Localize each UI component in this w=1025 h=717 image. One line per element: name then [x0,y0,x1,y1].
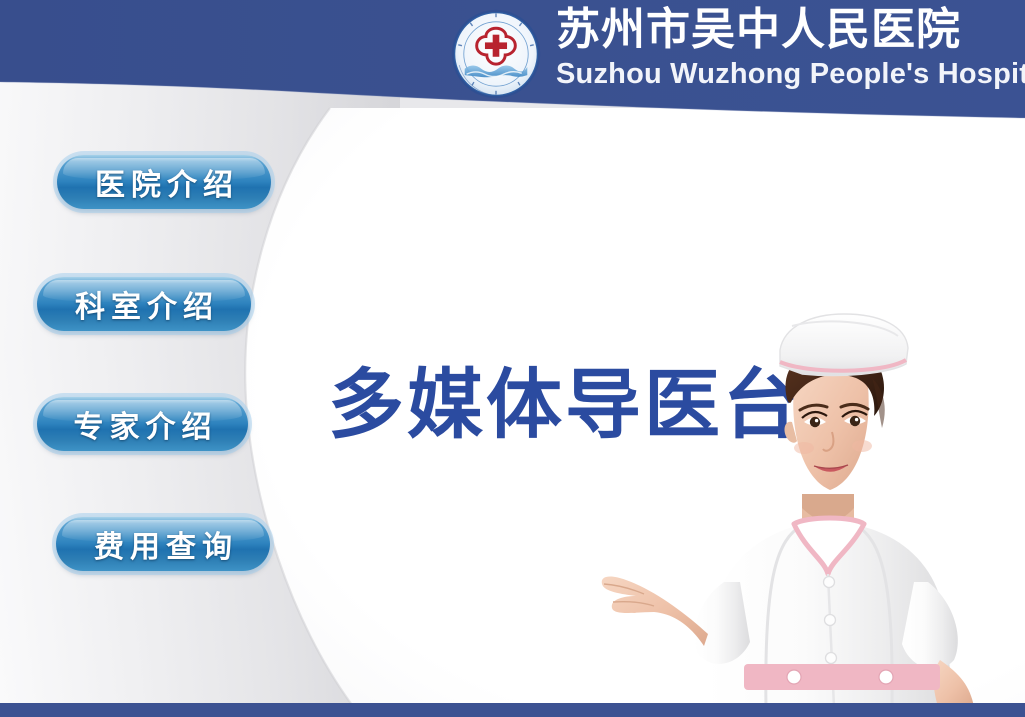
nurse-photo [588,282,1025,707]
sidebar-item-department-intro[interactable]: 科室介绍 [37,277,251,331]
sidebar-nav: 医院介绍 科室介绍 专家介绍 费用查询 [0,0,300,717]
sidebar-item-label: 费用查询 [88,522,238,566]
sidebar-item-expert-intro[interactable]: 专家介绍 [37,397,248,451]
sidebar-item-label: 专家介绍 [68,402,218,446]
bottom-bar [0,703,1025,717]
sidebar-item-fee-inquiry[interactable]: 费用查询 [56,517,270,571]
sidebar-item-hospital-intro[interactable]: 医院介绍 [57,155,271,209]
sidebar-item-label: 医院介绍 [89,160,239,204]
sidebar-item-label: 科室介绍 [69,282,219,326]
kiosk-screen: 苏州市吴中人民医院 Suzhou Wuzhong People's Hospit… [0,0,1025,717]
